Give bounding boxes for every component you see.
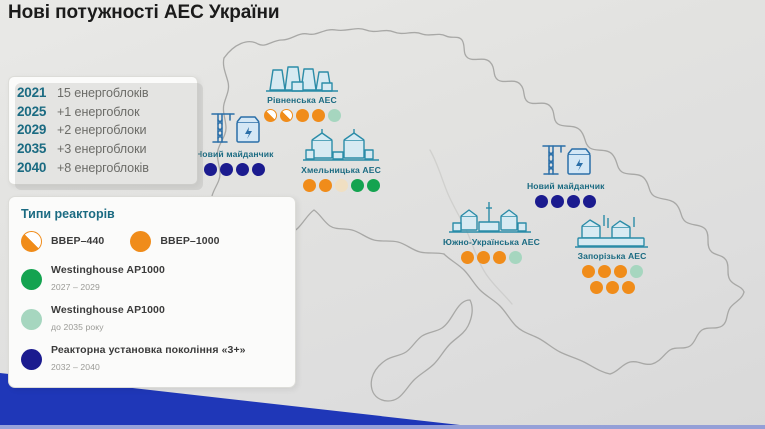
gen3plus-swatch-icon bbox=[21, 349, 42, 370]
plant-name: Хмельницька АЕС bbox=[301, 165, 381, 175]
plant-marker-pivdennoukrainska[interactable]: Южно-Українська АЕС bbox=[443, 200, 540, 264]
legend-title: Типи реакторів bbox=[21, 207, 285, 221]
unit-dot-gen3plus bbox=[220, 163, 233, 176]
unit-dot-vver1000 bbox=[598, 265, 611, 278]
unit-dot-vver1000 bbox=[622, 281, 635, 294]
unit-dot-gen3plus bbox=[252, 163, 265, 176]
timeline-year: 2029 bbox=[17, 121, 57, 140]
unit-dot-vver1000 bbox=[312, 109, 325, 122]
legend-label: Реакторна установка покоління «3+» bbox=[51, 344, 246, 357]
timeline-value: 15 енергоблоків bbox=[57, 85, 148, 102]
reactor-building-icon bbox=[300, 128, 382, 164]
unit-dot-vver440 bbox=[280, 109, 293, 122]
plant-marker-khmelnytskyi[interactable]: Хмельницька АЕС bbox=[300, 128, 382, 192]
timeline-row: 2025 +1 енергоблок bbox=[17, 103, 189, 122]
unit-dot-ap1000-green bbox=[367, 179, 380, 192]
timeline-year: 2021 bbox=[17, 84, 57, 103]
plant-marker-rivne[interactable]: Рівненська АЕС bbox=[262, 58, 342, 122]
legend-sublabel: до 2035 року bbox=[51, 322, 104, 332]
plant-marker-new-site-west[interactable]: Новий майданчик bbox=[196, 108, 274, 176]
construction-crane-icon bbox=[535, 140, 597, 180]
unit-dot-vver1000 bbox=[614, 265, 627, 278]
plant-marker-new-site-east[interactable]: Новий майданчик bbox=[527, 140, 605, 208]
unit-dot-planned bbox=[335, 179, 348, 192]
unit-dots bbox=[577, 265, 647, 294]
unit-dot-vver1000 bbox=[296, 109, 309, 122]
legend-label: Westinghouse AP1000 bbox=[51, 264, 165, 277]
timeline-value: +2 енергоблоки bbox=[57, 122, 146, 139]
construction-crane-icon bbox=[204, 108, 266, 148]
legend-row-gen3plus: Реакторна установка покоління «3+» 2032 … bbox=[21, 344, 285, 375]
unit-dot-gen3plus bbox=[204, 163, 217, 176]
unit-dot-vver1000 bbox=[590, 281, 603, 294]
unit-dots bbox=[303, 179, 380, 192]
unit-dot-vver1000 bbox=[493, 251, 506, 264]
unit-dot-ap1000-mint bbox=[630, 265, 643, 278]
plant-marker-zaporizhzhia[interactable]: Запорізька АЕС bbox=[570, 212, 654, 294]
unit-dot-vver1000 bbox=[477, 251, 490, 264]
unit-dot-ap1000-mint bbox=[509, 251, 522, 264]
timeline-row: 2029 +2 енергоблоки bbox=[17, 121, 189, 140]
plant-name: Новий майданчик bbox=[196, 149, 274, 159]
legend-row-vver: ВВЕР–440 ВВЕР–1000 bbox=[21, 231, 285, 252]
unit-dot-ap1000-green bbox=[351, 179, 364, 192]
unit-dot-gen3plus bbox=[567, 195, 580, 208]
ap1000-mint-swatch-icon bbox=[21, 309, 42, 330]
timeline-year: 2025 bbox=[17, 103, 57, 122]
vver1000-swatch-icon bbox=[130, 231, 151, 252]
unit-dot-gen3plus bbox=[551, 195, 564, 208]
legend-sublabel: 2032 – 2040 bbox=[51, 362, 100, 372]
timeline-value: +1 енергоблок bbox=[57, 104, 140, 121]
unit-dot-vver1000 bbox=[303, 179, 316, 192]
legend-row-ap1000-green: Westinghouse AP1000 2027 – 2029 bbox=[21, 264, 285, 295]
timeline-value: +3 енергоблоки bbox=[57, 141, 146, 158]
timeline-row: 2040 +8 енергоблоків bbox=[17, 159, 189, 178]
unit-dot-gen3plus bbox=[583, 195, 596, 208]
power-plant-icon bbox=[443, 200, 539, 236]
legend-label: ВВЕР–440 bbox=[51, 235, 104, 248]
legend-card: Типи реакторів ВВЕР–440 ВВЕР–1000 Westin… bbox=[8, 196, 296, 388]
unit-dot-vver1000 bbox=[461, 251, 474, 264]
plant-name: Запорізька АЕС bbox=[578, 251, 647, 261]
power-plant-wide-icon bbox=[570, 212, 654, 250]
timeline-value: +8 енергоблоків bbox=[57, 160, 149, 177]
unit-dot-vver1000 bbox=[606, 281, 619, 294]
unit-dots bbox=[264, 109, 341, 122]
timeline-year: 2040 bbox=[17, 159, 57, 178]
vver440-swatch-icon bbox=[21, 231, 42, 252]
ap1000-green-swatch-icon bbox=[21, 269, 42, 290]
legend-sublabel: 2027 – 2029 bbox=[51, 282, 100, 292]
plant-name: Новий майданчик bbox=[527, 181, 605, 191]
plant-name: Рівненська АЕС bbox=[267, 95, 337, 105]
legend-label: ВВЕР–1000 bbox=[160, 235, 219, 248]
cooling-towers-icon bbox=[262, 58, 342, 94]
legend-label: Westinghouse AP1000 bbox=[51, 304, 165, 317]
unit-dots bbox=[204, 163, 265, 176]
unit-dots bbox=[535, 195, 596, 208]
unit-dots bbox=[461, 251, 522, 264]
infographic-canvas: Нові потужності АЕС України 2021 15 енер… bbox=[0, 0, 765, 429]
timeline-row: 2035 +3 енергоблоки bbox=[17, 140, 189, 159]
page-title: Нові потужності АЕС України bbox=[8, 2, 279, 24]
legend-row-ap1000-mint: Westinghouse AP1000 до 2035 року bbox=[21, 304, 285, 335]
timeline-row: 2021 15 енергоблоків bbox=[17, 84, 189, 103]
unit-dot-ap1000-mint bbox=[328, 109, 341, 122]
unit-dot-vver1000 bbox=[582, 265, 595, 278]
unit-dot-gen3plus bbox=[236, 163, 249, 176]
timeline-year: 2035 bbox=[17, 140, 57, 159]
timeline-card: 2021 15 енергоблоків 2025 +1 енергоблок … bbox=[8, 76, 198, 185]
plant-name: Южно-Українська АЕС bbox=[443, 237, 540, 247]
unit-dot-vver1000 bbox=[319, 179, 332, 192]
